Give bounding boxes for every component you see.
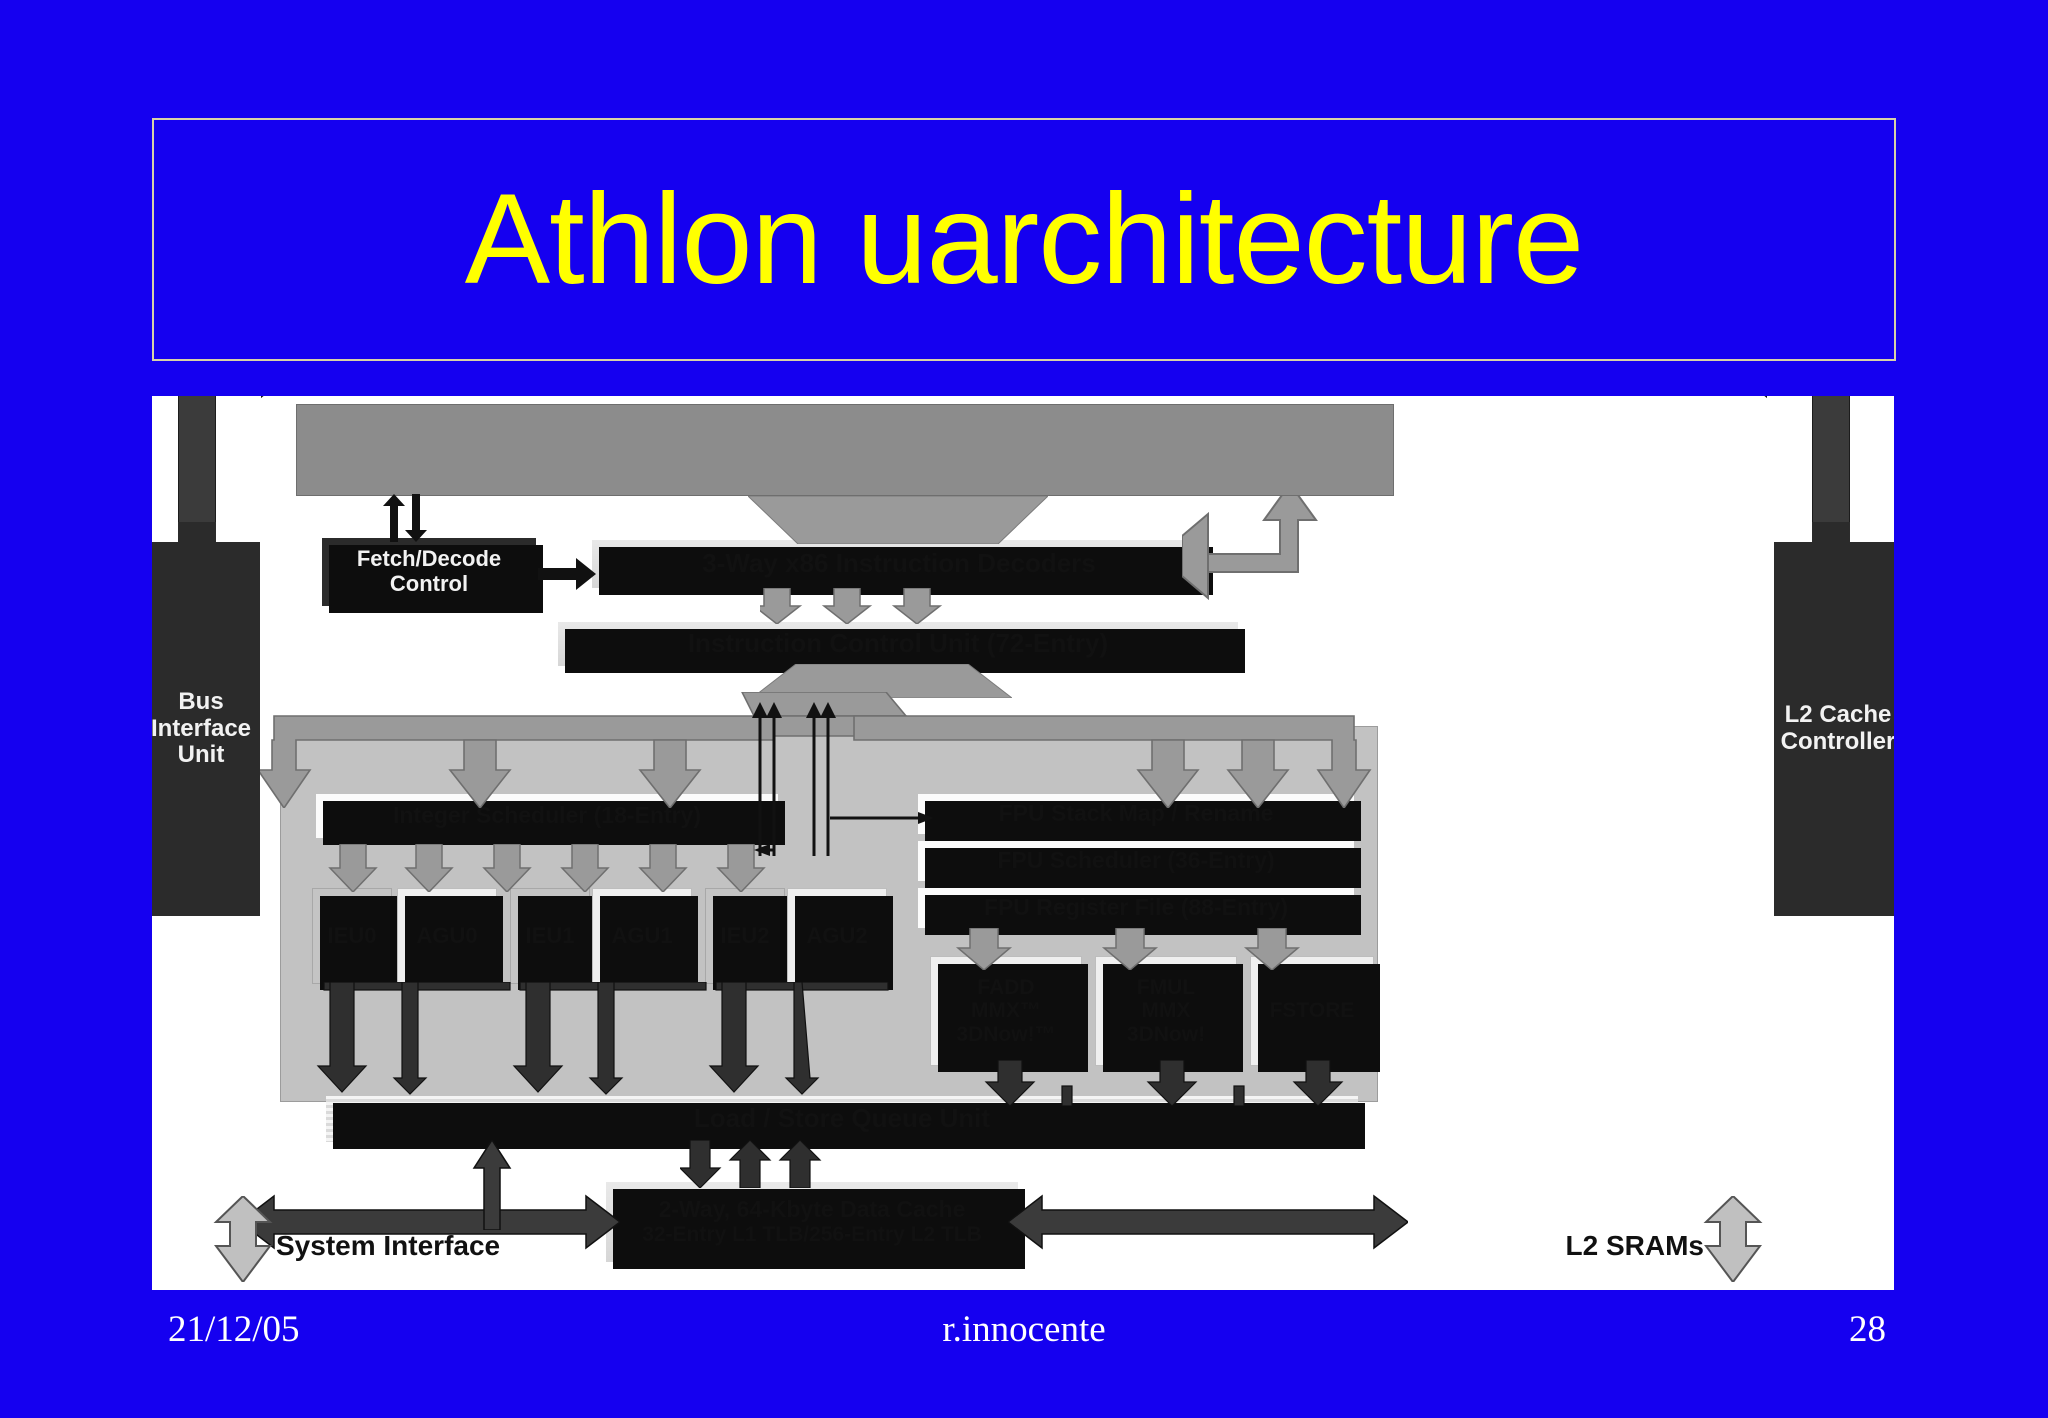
load-store-queue-label: Load / Store Queue Unit — [694, 1104, 990, 1133]
l2-cache-controller-label-2: Controller — [1781, 729, 1894, 756]
fpu-pipe-label-2: MMX — [1142, 999, 1191, 1023]
fpu-pipe-fstore: FSTORE — [1250, 956, 1374, 1066]
icu-feedback-horizontal-lines-icon — [744, 808, 944, 864]
icache-to-decoders-trapezoid-icon — [748, 496, 1048, 544]
footer-page-number: 28 — [1849, 1308, 1886, 1351]
execution-unit-label: AGU0 — [416, 924, 477, 949]
data-cache-label-1: 2-Way, 64-Kbyte Data Cache — [659, 1197, 966, 1223]
system-interface-arrow-icon — [212, 1196, 274, 1282]
execution-unit-agu2: AGU2 — [787, 888, 887, 984]
execution-unit-label: AGU2 — [806, 924, 867, 949]
bus-interface-unit-label-3: Unit — [178, 742, 225, 769]
fetch-decode-control-block: Fetch/Decode Control — [322, 538, 536, 606]
execution-unit-ieu1: IEU1 — [510, 888, 590, 984]
fpu-register-file-block: FPU Register File (88-Entry) — [918, 888, 1354, 928]
decoders-to-branch-prediction-arrow-icon — [1182, 484, 1332, 600]
fpu-regfile-to-pipes-arrows-icon — [918, 928, 1358, 970]
fetch-decode-label-1: Fetch/Decode — [357, 547, 501, 572]
l2-cache-controller: L2 Cache Controller — [1774, 542, 1894, 916]
fetch-decode-label-2: Control — [390, 572, 468, 597]
l2-srams-text: L2 SRAMs — [1566, 1230, 1704, 1261]
data-cache-label-2: 32-Entry L1 TLB/256-Entry L2 TLB — [642, 1223, 982, 1247]
execution-unit-agu1: AGU1 — [592, 888, 692, 984]
execution-unit-label: IEU1 — [526, 924, 575, 949]
slide-root: Athlon uarchitecture Bus Interface Unit … — [0, 0, 2048, 1418]
fpu-scheduler-block: FPU Scheduler (36-Entry) — [918, 841, 1354, 881]
l2-srams-arrow-icon — [1702, 1196, 1764, 1282]
fpu-pipe-label-1: FMUL — [1137, 976, 1195, 1000]
instruction-control-unit-block: Instruction Control Unit (72-Entry) — [558, 622, 1238, 666]
execution-unit-ieu0: IEU0 — [312, 888, 392, 984]
instruction-decoders-block: 3-Way x86 Instruction Decoders — [592, 540, 1206, 588]
data-cache-block: 2-Way, 64-Kbyte Data Cache 32-Entry L1 T… — [606, 1182, 1018, 1262]
integer-scheduler-dispatch-arrows-icon — [316, 844, 786, 892]
fpu-pipe-label-1: FADD — [977, 976, 1034, 1000]
fpu-pipe-label-1: FSTORE — [1270, 999, 1355, 1023]
l2-cache-controller-stub — [1812, 522, 1850, 546]
fpu-pipe-label-3: 3DNow! — [1127, 1023, 1205, 1047]
icache-feed-vertical-line — [178, 396, 216, 526]
execution-unit-label: IEU2 — [721, 924, 770, 949]
instruction-cache-input-arrow-icon — [178, 396, 304, 410]
l2-srams-label: L2 SRAMs — [1424, 1226, 1704, 1266]
title-box: Athlon uarchitecture — [152, 118, 1896, 361]
fpu-pipe-fmul: FMUL MMX 3DNow! — [1095, 956, 1237, 1066]
decoders-to-icu-arrows-icon — [760, 588, 960, 624]
bus-interface-unit-label-1: Bus — [178, 689, 223, 716]
fpu-pipe-fadd: FADD MMX™ 3DNow!™ — [930, 956, 1082, 1066]
bus-interface-unit-stub — [178, 522, 216, 546]
athlon-microarchitecture-diagram: Bus Interface Unit L2 Cache Controller 2… — [152, 396, 1894, 1290]
execution-unit-label: AGU1 — [611, 924, 672, 949]
fpu-pipe-label-2: MMX™ — [971, 999, 1041, 1023]
bp-feed-vertical-line — [1812, 396, 1850, 526]
fpu-pipes-to-lsq-arrows-icon — [922, 1060, 1372, 1106]
icache-fetchdecode-arrows-icon — [380, 494, 436, 542]
branch-prediction-input-arrow-icon — [1724, 396, 1850, 410]
system-bus-arrow-left-icon — [240, 1188, 620, 1256]
l2-cache-controller-label-1: L2 Cache — [1785, 702, 1892, 729]
execution-unit-label: IEU0 — [328, 924, 377, 949]
fetchdecode-to-decoders-arrow-icon — [538, 558, 596, 590]
instruction-decoders-label: 3-Way x86 Instruction Decoders — [702, 549, 1096, 578]
page-title: Athlon uarchitecture — [465, 176, 1583, 304]
fpu-scheduler-label: FPU Scheduler (36-Entry) — [997, 848, 1274, 874]
execution-unit-agu0: AGU0 — [397, 888, 497, 984]
bus-interface-unit-label-2: Interface — [152, 716, 251, 743]
fpu-register-file-label: FPU Register File (88-Entry) — [984, 895, 1288, 921]
exec-units-to-lsq-arrows-icon — [302, 982, 902, 1100]
l2-bus-arrow-right-icon — [1008, 1188, 1408, 1256]
fpu-pipe-label-3: 3DNow!™ — [956, 1023, 1055, 1047]
footer-author: r.innocente — [0, 1308, 2048, 1351]
lsq-to-system-bus-arrow-icon — [470, 1140, 514, 1230]
lsq-to-data-cache-arrows-icon — [680, 1140, 840, 1188]
front-end-container — [296, 404, 1394, 496]
execution-unit-ieu2: IEU2 — [705, 888, 785, 984]
bus-interface-unit: Bus Interface Unit — [152, 542, 260, 916]
instruction-control-unit-label: Instruction Control Unit (72-Entry) — [688, 629, 1108, 658]
